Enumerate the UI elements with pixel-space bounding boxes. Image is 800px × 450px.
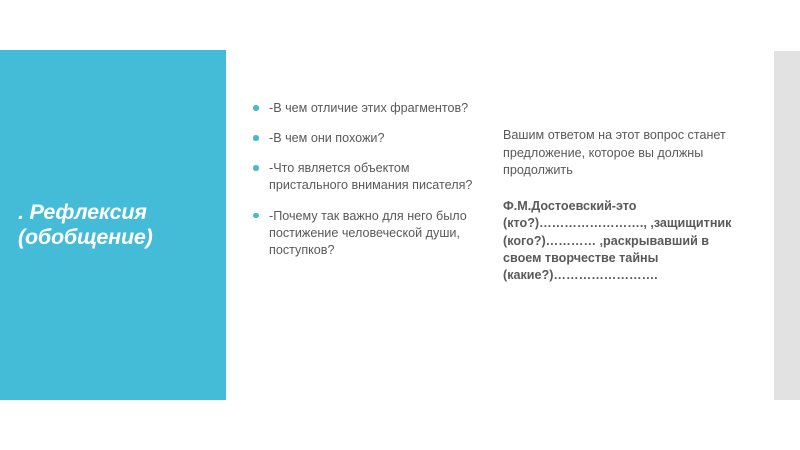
- slide-title: . Рефлексия (обобщение): [18, 200, 212, 251]
- bullet-dot-icon: [253, 105, 259, 111]
- list-item-label: -В чем они похожи?: [269, 131, 384, 145]
- list-item: -Почему так важно для него было постижен…: [252, 208, 484, 259]
- fill-in-the-blank-sentence: Ф.М.Достоевский-это (кто?)……………………., ,за…: [503, 198, 743, 285]
- list-item-label: -Что является объектом пристального вним…: [269, 161, 472, 192]
- bullet-dot-icon: [253, 213, 259, 219]
- list-item-label: -В чем отличие этих фрагментов?: [269, 101, 468, 115]
- title-panel: . Рефлексия (обобщение): [0, 50, 226, 400]
- bullet-dot-icon: [253, 165, 259, 171]
- list-item: -В чем отличие этих фрагментов?: [252, 100, 484, 117]
- intro-paragraph: Вашим ответом на этот вопрос станет пред…: [503, 127, 743, 180]
- bullet-list: -В чем отличие этих фрагментов? -В чем о…: [252, 100, 484, 259]
- list-item-label: -Почему так важно для него было постижен…: [269, 209, 467, 257]
- right-accent-bar: [774, 51, 800, 400]
- slide-canvas: . Рефлексия (обобщение) -В чем отличие э…: [0, 0, 800, 450]
- right-text-column: Вашим ответом на этот вопрос станет пред…: [503, 127, 743, 285]
- list-item: -В чем они похожи?: [252, 130, 484, 147]
- bullet-dot-icon: [253, 135, 259, 141]
- list-item: -Что является объектом пристального вним…: [252, 160, 484, 194]
